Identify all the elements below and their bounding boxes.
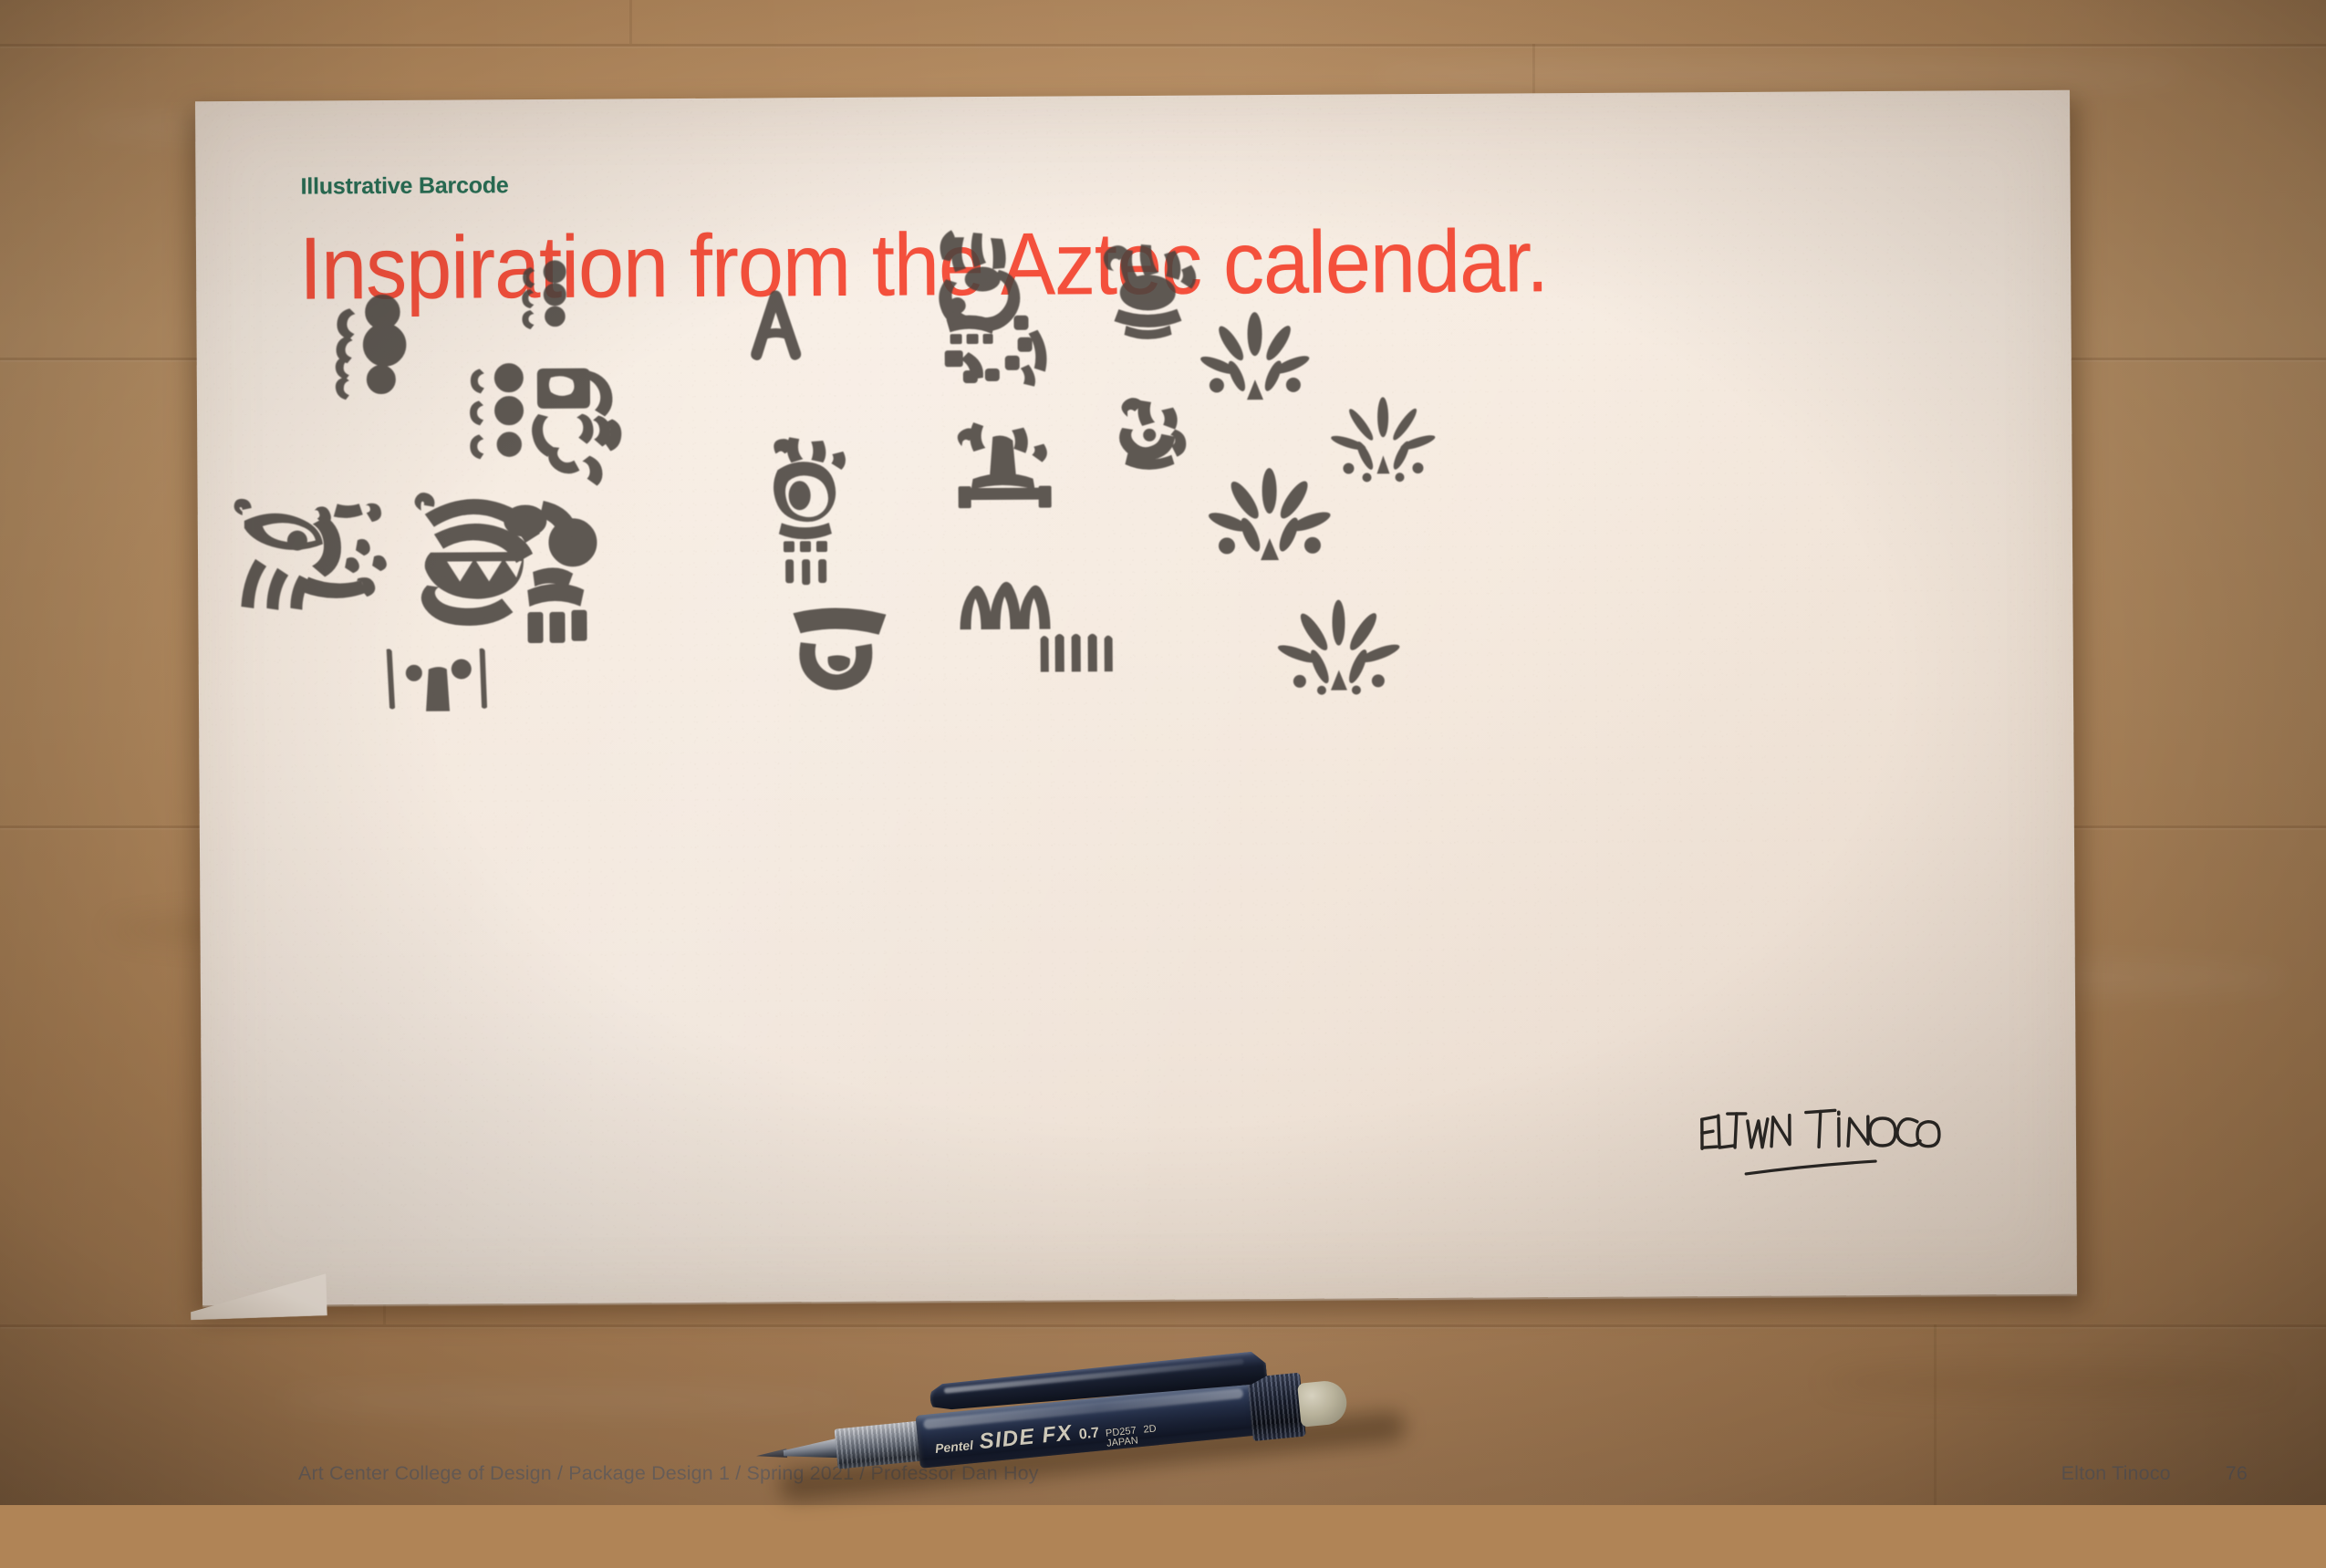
glyph-c-shapes-and-rings-cluster (333, 292, 452, 402)
pencil-lead-tip (755, 1449, 787, 1460)
glyph-serpent-head (402, 472, 631, 639)
footer-right-group: Elton Tinoco 76 (2061, 1462, 2248, 1485)
pencil-code-label: PD257 JAPAN (1106, 1426, 1139, 1449)
glyph-flower-burst (1328, 395, 1438, 487)
paper-sheet: Illustrative Barcode Inspiration from th… (195, 90, 2077, 1306)
pencil-brand-label: Pentel (934, 1438, 973, 1456)
glyph-deity-head-profile (926, 231, 1064, 387)
glyph-temple-mound (945, 410, 1064, 512)
footer-author: Elton Tinoco (2061, 1462, 2171, 1485)
glyph-eagle-talon (471, 358, 636, 478)
glyph-skull-mask (763, 435, 864, 591)
handwritten-signature (1695, 1106, 1942, 1189)
pencil-size-label: 0.7 (1078, 1425, 1100, 1443)
glyph-flower-xochitl-top (1199, 314, 1310, 406)
glyph-bar-dot-numeral (381, 647, 491, 711)
glyph-small-c-rings-cluster (520, 259, 593, 330)
pencil-grip-ferrule (835, 1420, 926, 1469)
sheet-surface: Illustrative Barcode Inspiration from th… (195, 90, 2077, 1306)
glyph-flower-xochitl-low (1279, 600, 1398, 701)
glyph-arrow-point (734, 285, 817, 377)
pencil-hardness-label: 2D (1143, 1423, 1157, 1435)
glyph-comb-teeth (1033, 629, 1125, 685)
pencil-metal-tip (783, 1438, 841, 1463)
glyph-feathered-crest (1095, 242, 1205, 343)
footer-page-number: 76 (2226, 1462, 2248, 1485)
glyph-eagle-head (230, 483, 404, 612)
glyph-bird-head-small (1109, 397, 1200, 471)
glyph-flower-xochitl-mid (1210, 469, 1329, 570)
glyph-mouth-jaw (782, 604, 901, 696)
pencil-clicker-collar (1247, 1373, 1306, 1441)
